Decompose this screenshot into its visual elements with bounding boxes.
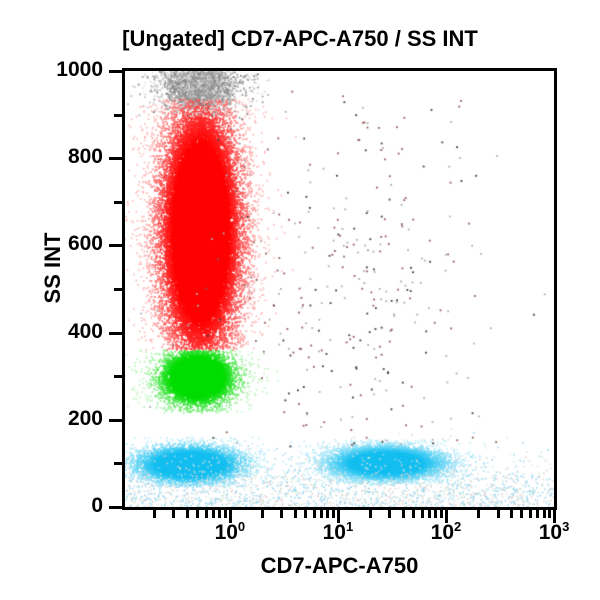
x-tick-minor [477, 510, 480, 518]
x-tick-label: 103 [539, 521, 570, 545]
x-tick-minor [536, 510, 539, 518]
x-tick-minor [440, 510, 443, 518]
x-tick-minor [205, 510, 208, 518]
plot-area[interactable] [122, 68, 557, 510]
y-tick-major [109, 70, 122, 73]
y-tick-label: 800 [23, 145, 103, 169]
x-tick-minor [172, 510, 175, 518]
x-tick-minor [326, 510, 329, 518]
x-tick-minor [261, 510, 264, 518]
x-tick-minor [510, 510, 513, 518]
x-tick-label: 102 [431, 521, 462, 545]
x-tick-minor [196, 510, 199, 518]
y-tick-minor [114, 114, 122, 117]
x-tick-minor [529, 510, 532, 518]
x-tick-minor [280, 510, 283, 518]
y-tick-major [109, 157, 122, 160]
x-tick-minor [186, 510, 189, 518]
y-tick-minor [114, 462, 122, 465]
y-tick-label: 400 [23, 320, 103, 344]
x-tick-minor [320, 510, 323, 518]
x-tick-minor [218, 510, 221, 518]
page-title: [Ungated] CD7-APC-A750 / SS INT [0, 26, 600, 52]
x-tick-minor [388, 510, 391, 518]
y-tick-label: 0 [23, 494, 103, 518]
x-tick-minor [224, 510, 227, 518]
x-tick-minor [294, 510, 297, 518]
x-tick-minor [520, 510, 523, 518]
x-tick-label: 101 [323, 521, 354, 545]
x-tick-minor [369, 510, 372, 518]
x-tick-minor [548, 510, 551, 518]
x-tick-minor [332, 510, 335, 518]
x-tick-minor [402, 510, 405, 518]
x-tick-minor [304, 510, 307, 518]
x-tick-minor [434, 510, 437, 518]
y-tick-label: 200 [23, 407, 103, 431]
x-tick-minor [428, 510, 431, 518]
scatter-points-canvas [125, 71, 554, 507]
x-tick-minor [153, 510, 156, 518]
y-tick-minor [114, 288, 122, 291]
x-tick-minor [412, 510, 415, 518]
x-tick-minor [212, 510, 215, 518]
y-tick-major [109, 332, 122, 335]
y-tick-label: 1000 [23, 58, 103, 82]
x-axis-label: CD7-APC-A750 [122, 553, 557, 579]
y-tick-minor [114, 201, 122, 204]
x-tick-minor [497, 510, 500, 518]
x-tick-label: 100 [215, 521, 246, 545]
y-axis-label: SS INT [40, 208, 66, 328]
x-tick-minor [313, 510, 316, 518]
x-tick-minor [421, 510, 424, 518]
y-tick-minor [114, 375, 122, 378]
y-tick-label: 600 [23, 232, 103, 256]
y-tick-major [109, 506, 122, 509]
y-tick-major [109, 244, 122, 247]
x-tick-minor [543, 510, 546, 518]
y-tick-major [109, 419, 122, 422]
flow-cytometry-scatter-plot: [Ungated] CD7-APC-A750 / SS INT SS INT 0… [0, 0, 600, 600]
